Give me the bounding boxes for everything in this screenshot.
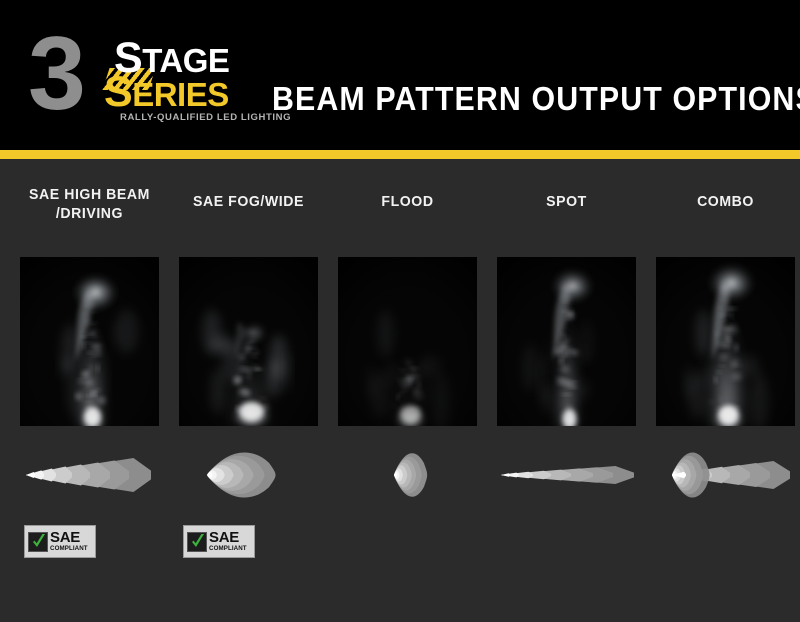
column-label-spot: SPOT bbox=[501, 192, 632, 211]
sae-badge-main-label: SAE bbox=[209, 530, 251, 545]
yellow-divider bbox=[0, 150, 800, 159]
sae-compliant-badge: SAECOMPLIANT bbox=[24, 525, 96, 558]
sae-badge-sub-label: COMPLIANT bbox=[209, 546, 251, 552]
beam-diagram-flood bbox=[338, 444, 477, 506]
beam-column-spot: SPOT bbox=[497, 159, 636, 622]
logo-numeral-3: 3 bbox=[28, 22, 82, 126]
beam-photo-flood bbox=[338, 257, 477, 426]
beam-photo-spot bbox=[497, 257, 636, 426]
sae-compliant-badge: SAECOMPLIANT bbox=[183, 525, 255, 558]
diode-dynamics-stage-series-logo: 3 STAGE SERIES RALLY-QUALIFIED LED LIGHT… bbox=[28, 26, 238, 126]
checkbox-frame bbox=[28, 532, 48, 552]
beam-photo-fog-wide bbox=[179, 257, 318, 426]
beam-column-fog-wide: SAE FOG/WIDESAECOMPLIANT bbox=[179, 159, 318, 622]
beam-column-flood: FLOOD bbox=[338, 159, 477, 622]
column-label-line1: SAE HIGH BEAM bbox=[24, 185, 155, 204]
sae-badge-text: SAECOMPLIANT bbox=[209, 530, 251, 552]
beam-diagram-fog-wide bbox=[179, 444, 318, 506]
page-title: BEAM PATTERN OUTPUT OPTIONS bbox=[272, 80, 800, 118]
column-label-fog-wide: SAE FOG/WIDE bbox=[183, 192, 314, 211]
beam-diagram-spot bbox=[497, 444, 636, 506]
column-label-line2: /DRIVING bbox=[24, 204, 155, 223]
column-label-driving: SAE HIGH BEAM/DRIVING bbox=[24, 185, 155, 223]
beam-diagram-driving bbox=[20, 444, 159, 506]
beam-photo-combo bbox=[656, 257, 795, 426]
header-bar: 3 STAGE SERIES RALLY-QUALIFIED LED LIGHT… bbox=[0, 0, 800, 150]
checkbox-frame bbox=[187, 532, 207, 552]
column-label-flood: FLOOD bbox=[342, 192, 473, 211]
sae-badge-text: SAECOMPLIANT bbox=[50, 530, 92, 552]
beam-diagram-combo bbox=[656, 444, 795, 506]
column-label-combo: COMBO bbox=[660, 192, 791, 211]
logo-word-series: SERIES bbox=[104, 76, 229, 111]
logo-tagline: RALLY-QUALIFIED LED LIGHTING bbox=[120, 112, 291, 123]
green-check-icon bbox=[191, 534, 205, 550]
sae-badge-main-label: SAE bbox=[50, 530, 92, 545]
beam-photo-driving bbox=[20, 257, 159, 426]
beam-column-combo: COMBO bbox=[656, 159, 795, 622]
green-check-icon bbox=[32, 534, 46, 550]
beam-pattern-infographic: 3 STAGE SERIES RALLY-QUALIFIED LED LIGHT… bbox=[0, 0, 800, 622]
beam-column-driving: SAE HIGH BEAM/DRIVINGSAECOMPLIANT bbox=[20, 159, 159, 622]
sae-badge-sub-label: COMPLIANT bbox=[50, 546, 92, 552]
